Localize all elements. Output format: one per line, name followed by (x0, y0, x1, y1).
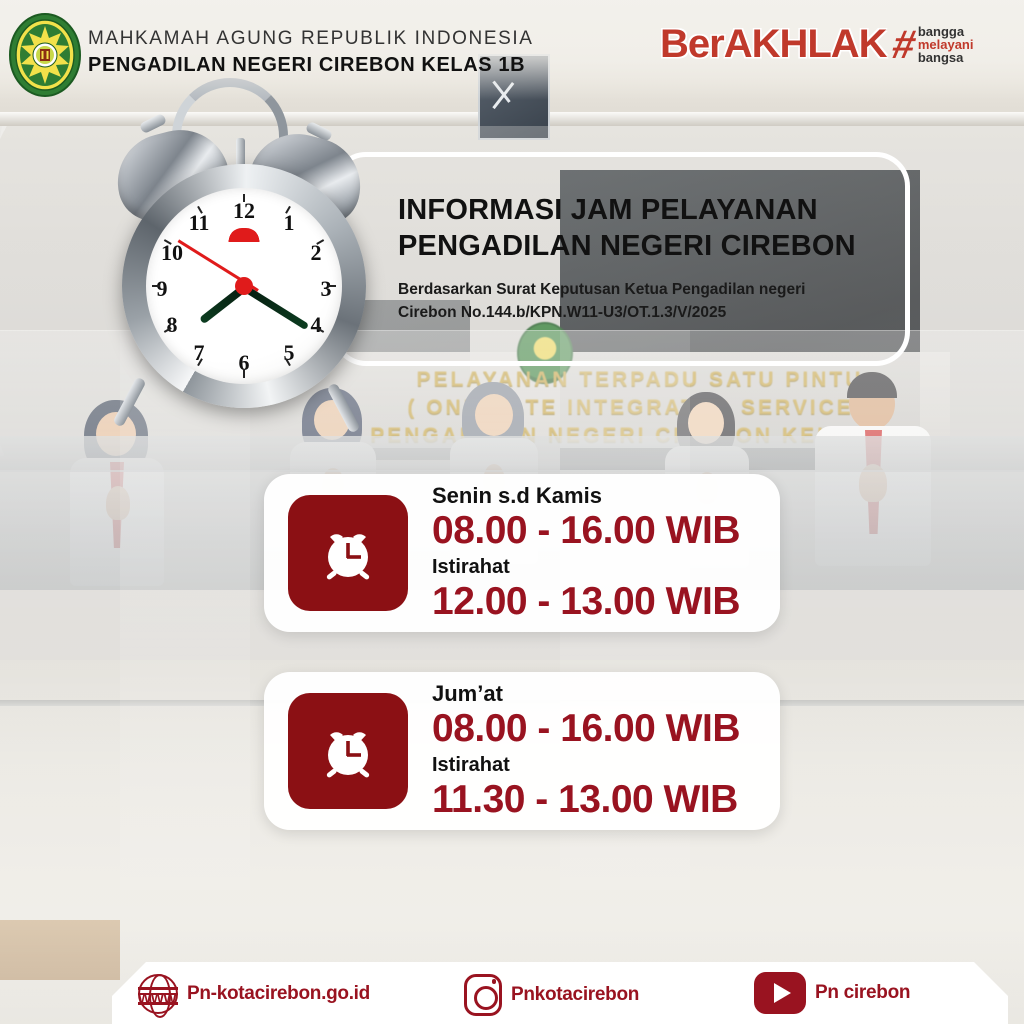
schedule-hours: 08.00 - 16.00 WIB (432, 509, 740, 553)
subtitle-line-2: Cirebon No.144.b/KPN.W11-U3/OT.1.3/V/202… (398, 301, 898, 324)
schedule-break-label: Istirahat (432, 554, 740, 580)
alarm-clock-graphic: 12 1 2 3 4 5 6 7 8 9 10 11 (110, 60, 380, 400)
header-text-block: MAHKAMAH AGUNG REPUBLIK INDONESIA PENGAD… (88, 26, 534, 78)
footer-website[interactable]: WWW Pn-kotacirebon.go.id (138, 974, 370, 1014)
instagram-icon (464, 974, 502, 1016)
schedule-card-body: Jum’at 08.00 - 16.00 WIB Istirahat 11.30… (432, 681, 740, 822)
bangga-tagline: bangga melayani bangsa (918, 25, 974, 64)
title-block: INFORMASI JAM PELAYANAN PENGADILAN NEGER… (398, 192, 898, 324)
footer-instagram[interactable]: Pnkotacirebon (464, 974, 639, 1016)
berakhlak-wordmark: BerAKHLAK (660, 22, 887, 67)
schedule-card-weekday: Senin s.d Kamis 08.00 - 16.00 WIB Istira… (264, 474, 780, 632)
clock-minute-hand (242, 285, 308, 330)
title-line-2: PENGADILAN NEGERI CIREBON (398, 228, 898, 264)
alarm-clock-icon (288, 495, 408, 611)
subtitle-line-1: Berdasarkan Surat Keputusan Ketua Pengad… (398, 278, 898, 301)
alarm-clock-icon (288, 693, 408, 809)
title-line-1: INFORMASI JAM PELAYANAN (398, 192, 898, 228)
tagline-line-3: bangsa (918, 51, 974, 64)
footer-website-label: Pn-kotacirebon.go.id (187, 983, 370, 1005)
schedule-break-hours: 12.00 - 13.00 WIB (432, 580, 740, 624)
supreme-court-seal-icon (8, 12, 82, 98)
schedule-card-body: Senin s.d Kamis 08.00 - 16.00 WIB Istira… (432, 483, 740, 624)
footer-youtube[interactable]: Pn cirebon (754, 972, 910, 1014)
poster-canvas: PELAYANAN TERPADU SATU PINTU ( ONE GATE … (0, 0, 1024, 1024)
header-line-1: MAHKAMAH AGUNG REPUBLIK INDONESIA (88, 26, 534, 52)
clock-dial: 12 1 2 3 4 5 6 7 8 9 10 11 (146, 188, 342, 384)
header-line-2: PENGADILAN NEGERI CIREBON KELAS 1B (88, 52, 534, 78)
footer-instagram-label: Pnkotacirebon (511, 984, 639, 1006)
schedule-hours: 08.00 - 16.00 WIB (432, 707, 740, 751)
schedule-day-label: Jum’at (432, 681, 740, 707)
clock-knob-left (139, 113, 167, 134)
hashtag-icon: # (889, 27, 919, 63)
footer-www-label: WWW (138, 990, 176, 1006)
clock-center-pin (235, 277, 253, 295)
title-subtitle: Berdasarkan Surat Keputusan Ketua Pengad… (398, 278, 898, 324)
bangga-melayani-bangsa-logo: # bangga melayani bangsa (893, 25, 974, 64)
clock-brand-mark (228, 228, 260, 242)
schedule-card-friday: Jum’at 08.00 - 16.00 WIB Istirahat 11.30… (264, 672, 780, 830)
footer-bar: WWW Pn-kotacirebon.go.id Pnkotacirebon P… (112, 962, 1008, 1024)
globe-icon: WWW (138, 974, 178, 1014)
berakhlak-logo: BerAKHLAK # bangga melayani bangsa (660, 22, 973, 67)
schedule-break-hours: 11.30 - 13.00 WIB (432, 778, 740, 822)
youtube-icon (754, 972, 806, 1014)
poster-header: MAHKAMAH AGUNG REPUBLIK INDONESIA PENGAD… (0, 0, 1024, 100)
schedule-break-label: Istirahat (432, 752, 740, 778)
schedule-day-label: Senin s.d Kamis (432, 483, 740, 509)
footer-youtube-label: Pn cirebon (815, 982, 910, 1004)
